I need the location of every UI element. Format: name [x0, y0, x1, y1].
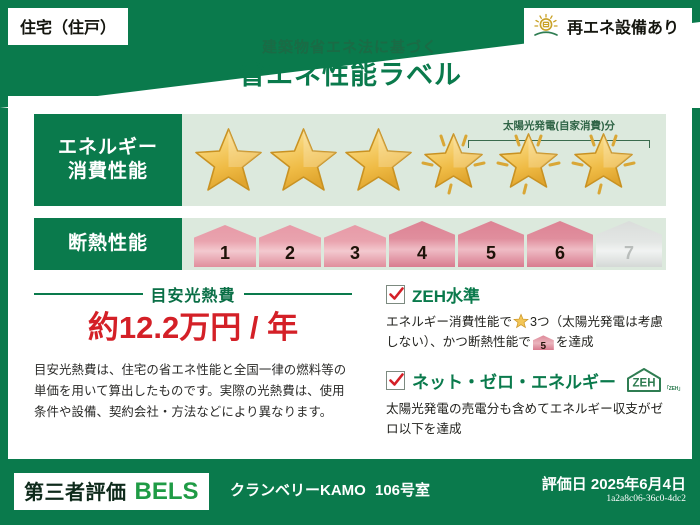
insulation-badge-label: 4 [417, 243, 427, 264]
insulation-badge-5: 5 [458, 221, 524, 267]
claim-net-zero-energy: ネット・ゼロ・エネルギー ZEH 「ZEH」 太陽光発電の売電分も含めてエネルギ… [386, 367, 666, 440]
title-block: 建築物省エネ法に基づく 省エネ性能ラベル [0, 40, 700, 90]
title-subtitle: 建築物省エネ法に基づく [0, 40, 700, 57]
bels-logo-text: BELS [135, 478, 199, 506]
zeh-logo: ZEH 「ZEH」 [625, 367, 683, 394]
claims-section: ZEH水準 エネルギー消費性能で3つ（太陽光発電は考慮しない）、かつ断熱性能で5… [386, 282, 666, 454]
claim-text-part3: を達成 [556, 335, 594, 349]
insulation-badge-label: 5 [486, 243, 496, 264]
insulation-badge-label: 7 [624, 243, 634, 264]
checkbox-net-zero-energy[interactable] [386, 371, 405, 390]
title-main: 省エネ性能ラベル [0, 61, 700, 91]
building-name: クランベリーKAMO [230, 479, 366, 500]
star-icon-solar [417, 123, 490, 197]
utility-cost-value: 約12.2万円 / 年 [34, 310, 352, 346]
insulation-badge-label: 6 [555, 243, 565, 264]
insulation-badge-label: 3 [350, 243, 360, 264]
claim-net-zero-head: ネット・ゼロ・エネルギー ZEH 「ZEH」 [386, 367, 666, 394]
solar-sun-icon [532, 13, 560, 39]
insulation-badge-7: 7 [596, 221, 662, 267]
utility-cost-note: 目安光熱費は、住宅の省エネ性能と全国一律の燃料等の単価を用いて算出したものです。… [34, 360, 352, 424]
svg-text:ZEH: ZEH [633, 377, 656, 389]
insulation-performance-value-box: 1 2 3 4 5 6 7 [182, 218, 666, 270]
insulation-label: 断熱性能 [68, 232, 148, 256]
inline-badge-label: 5 [541, 341, 547, 352]
insulation-performance-row: 断熱性能 1 2 3 4 5 6 7 [34, 218, 666, 270]
claim-zeh-standard-title: ZEH水準 [412, 282, 480, 307]
star-icon [192, 123, 265, 197]
utility-cost-heading-label: 目安光熱費 [151, 282, 236, 306]
utility-cost-section: 目安光熱費 約12.2万円 / 年 目安光熱費は、住宅の省エネ性能と全国一律の燃… [34, 282, 352, 424]
inline-star-icon [513, 313, 529, 329]
energy-performance-label-box: エネルギー 消費性能 [34, 114, 182, 206]
rule-right [244, 293, 353, 295]
star-icon [342, 123, 415, 197]
insulation-badge-4: 4 [389, 221, 455, 267]
checkbox-zeh-standard[interactable] [386, 285, 405, 304]
star-rating [192, 123, 640, 197]
energy-performance-value-box: 太陽光発電(自家消費)分 [182, 114, 666, 206]
energy-performance-row: エネルギー 消費性能 太陽光発電(自家消費)分 [34, 114, 666, 206]
claim-zeh-standard: ZEH水準 エネルギー消費性能で3つ（太陽光発電は考慮しない）、かつ断熱性能で5… [386, 282, 666, 353]
insulation-performance-label-box: 断熱性能 [34, 218, 182, 270]
check-icon [388, 372, 405, 389]
energy-label-line2: 消費性能 [68, 160, 148, 184]
evaluation-id: 1a2a8c06-36c0-4dc2 [606, 494, 686, 504]
claim-zeh-standard-head: ZEH水準 [386, 282, 666, 307]
insulation-level-badges: 1 2 3 4 5 6 7 [194, 221, 662, 267]
star-icon-solar [567, 123, 640, 197]
main-card: エネルギー 消費性能 太陽光発電(自家消費)分 [8, 96, 692, 459]
check-icon [388, 286, 405, 303]
energy-label-line1: エネルギー [58, 136, 158, 160]
insulation-badge-6: 6 [527, 221, 593, 267]
claim-net-zero-body: 太陽光発電の売電分も含めてエネルギー収支がゼロ以下を達成 [386, 399, 666, 440]
third-party-evaluation-label: 第三者評価 [24, 476, 127, 505]
inline-insulation-badge: 5 [533, 335, 554, 350]
insulation-badge-1: 1 [194, 225, 256, 267]
renewable-badge-label: 再エネ設備あり [567, 14, 679, 38]
insulation-badge-label: 1 [220, 243, 230, 264]
bels-certification-chip: 第三者評価 BELS [14, 473, 209, 510]
evaluation-date: 評価日 2025年6月4日 [542, 473, 686, 494]
insulation-badge-3: 3 [324, 225, 386, 267]
star-icon [267, 123, 340, 197]
rule-left [34, 293, 143, 295]
claim-zeh-standard-body: エネルギー消費性能で3つ（太陽光発電は考慮しない）、かつ断熱性能で5を達成 [386, 312, 666, 353]
room-number: 106号室 [375, 479, 430, 500]
zeh-logo-caption: 「ZEH」 [664, 385, 683, 392]
claim-text-part1: エネルギー消費性能で [386, 315, 512, 329]
insulation-badge-label: 2 [285, 243, 295, 264]
utility-cost-heading: 目安光熱費 [34, 282, 352, 306]
insulation-badge-2: 2 [259, 225, 321, 267]
footer-bar: 第三者評価 BELS クランベリーKAMO 106号室 評価日 2025年6月4… [0, 463, 700, 525]
claim-net-zero-title: ネット・ゼロ・エネルギー [412, 368, 616, 393]
zeh-house-icon: ZEH [625, 367, 663, 394]
star-icon-solar [492, 123, 565, 197]
energy-performance-label: 住宅（住戸） 再エネ設備あり 建築物省エネ法に基づく [0, 0, 700, 525]
